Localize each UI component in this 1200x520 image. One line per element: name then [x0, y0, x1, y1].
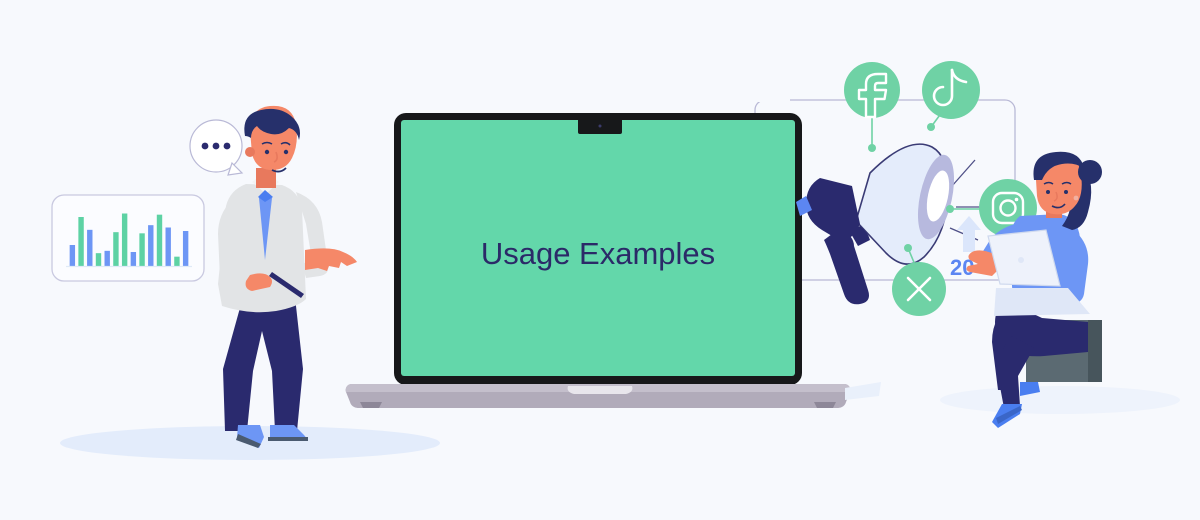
woman-eye-left [1046, 190, 1050, 194]
chart-card-frame [52, 195, 204, 281]
chart-bar [157, 215, 162, 266]
webcam-dot [599, 125, 602, 128]
bubble-dot [202, 143, 209, 150]
chart-bar [113, 232, 118, 266]
woman-eye-right [1064, 190, 1068, 194]
man-ear [245, 147, 255, 157]
screen-title: Usage Examples [481, 236, 715, 271]
chart-bar [78, 217, 83, 266]
bubble-dot [213, 143, 220, 150]
chart-bar [105, 251, 110, 266]
facebook-icon[interactable] [844, 62, 900, 118]
ground-shadow-right [940, 386, 1180, 414]
instagram-glyph-dot [1015, 198, 1019, 202]
social-icon-tiktok[interactable] [922, 61, 980, 119]
chart-bar [96, 253, 101, 266]
woman-laptop-logo [1018, 257, 1024, 263]
chart-bar [174, 257, 179, 266]
illustration-canvas: Usage Examples [0, 0, 1200, 520]
laptop-foot-right [814, 402, 836, 408]
social-icon-x[interactable] [892, 262, 946, 316]
scene-svg: Usage Examples [0, 0, 1200, 520]
social-icon-facebook[interactable] [844, 62, 900, 118]
man-shoe-right-sole [268, 437, 308, 441]
man-eye-right [284, 150, 288, 154]
chart-bar [148, 225, 153, 266]
chart-bar [122, 214, 127, 267]
woman-earring [1074, 196, 1079, 201]
laptop-trackpad-notch [568, 386, 633, 394]
bar-chart-card [52, 195, 204, 281]
chart-bar [87, 230, 92, 266]
bubble-dot [224, 143, 231, 150]
chart-bar [183, 231, 188, 266]
chart-bar [166, 228, 171, 267]
man-eye-left [265, 150, 269, 154]
woman-seat-side [1088, 320, 1102, 382]
laptop: Usage Examples [346, 113, 881, 408]
woman-hair-bun [1078, 160, 1102, 184]
chart-bar [139, 233, 144, 266]
laptop-foot-left [360, 402, 382, 408]
chart-bar [70, 245, 75, 266]
chart-bar [131, 252, 136, 266]
